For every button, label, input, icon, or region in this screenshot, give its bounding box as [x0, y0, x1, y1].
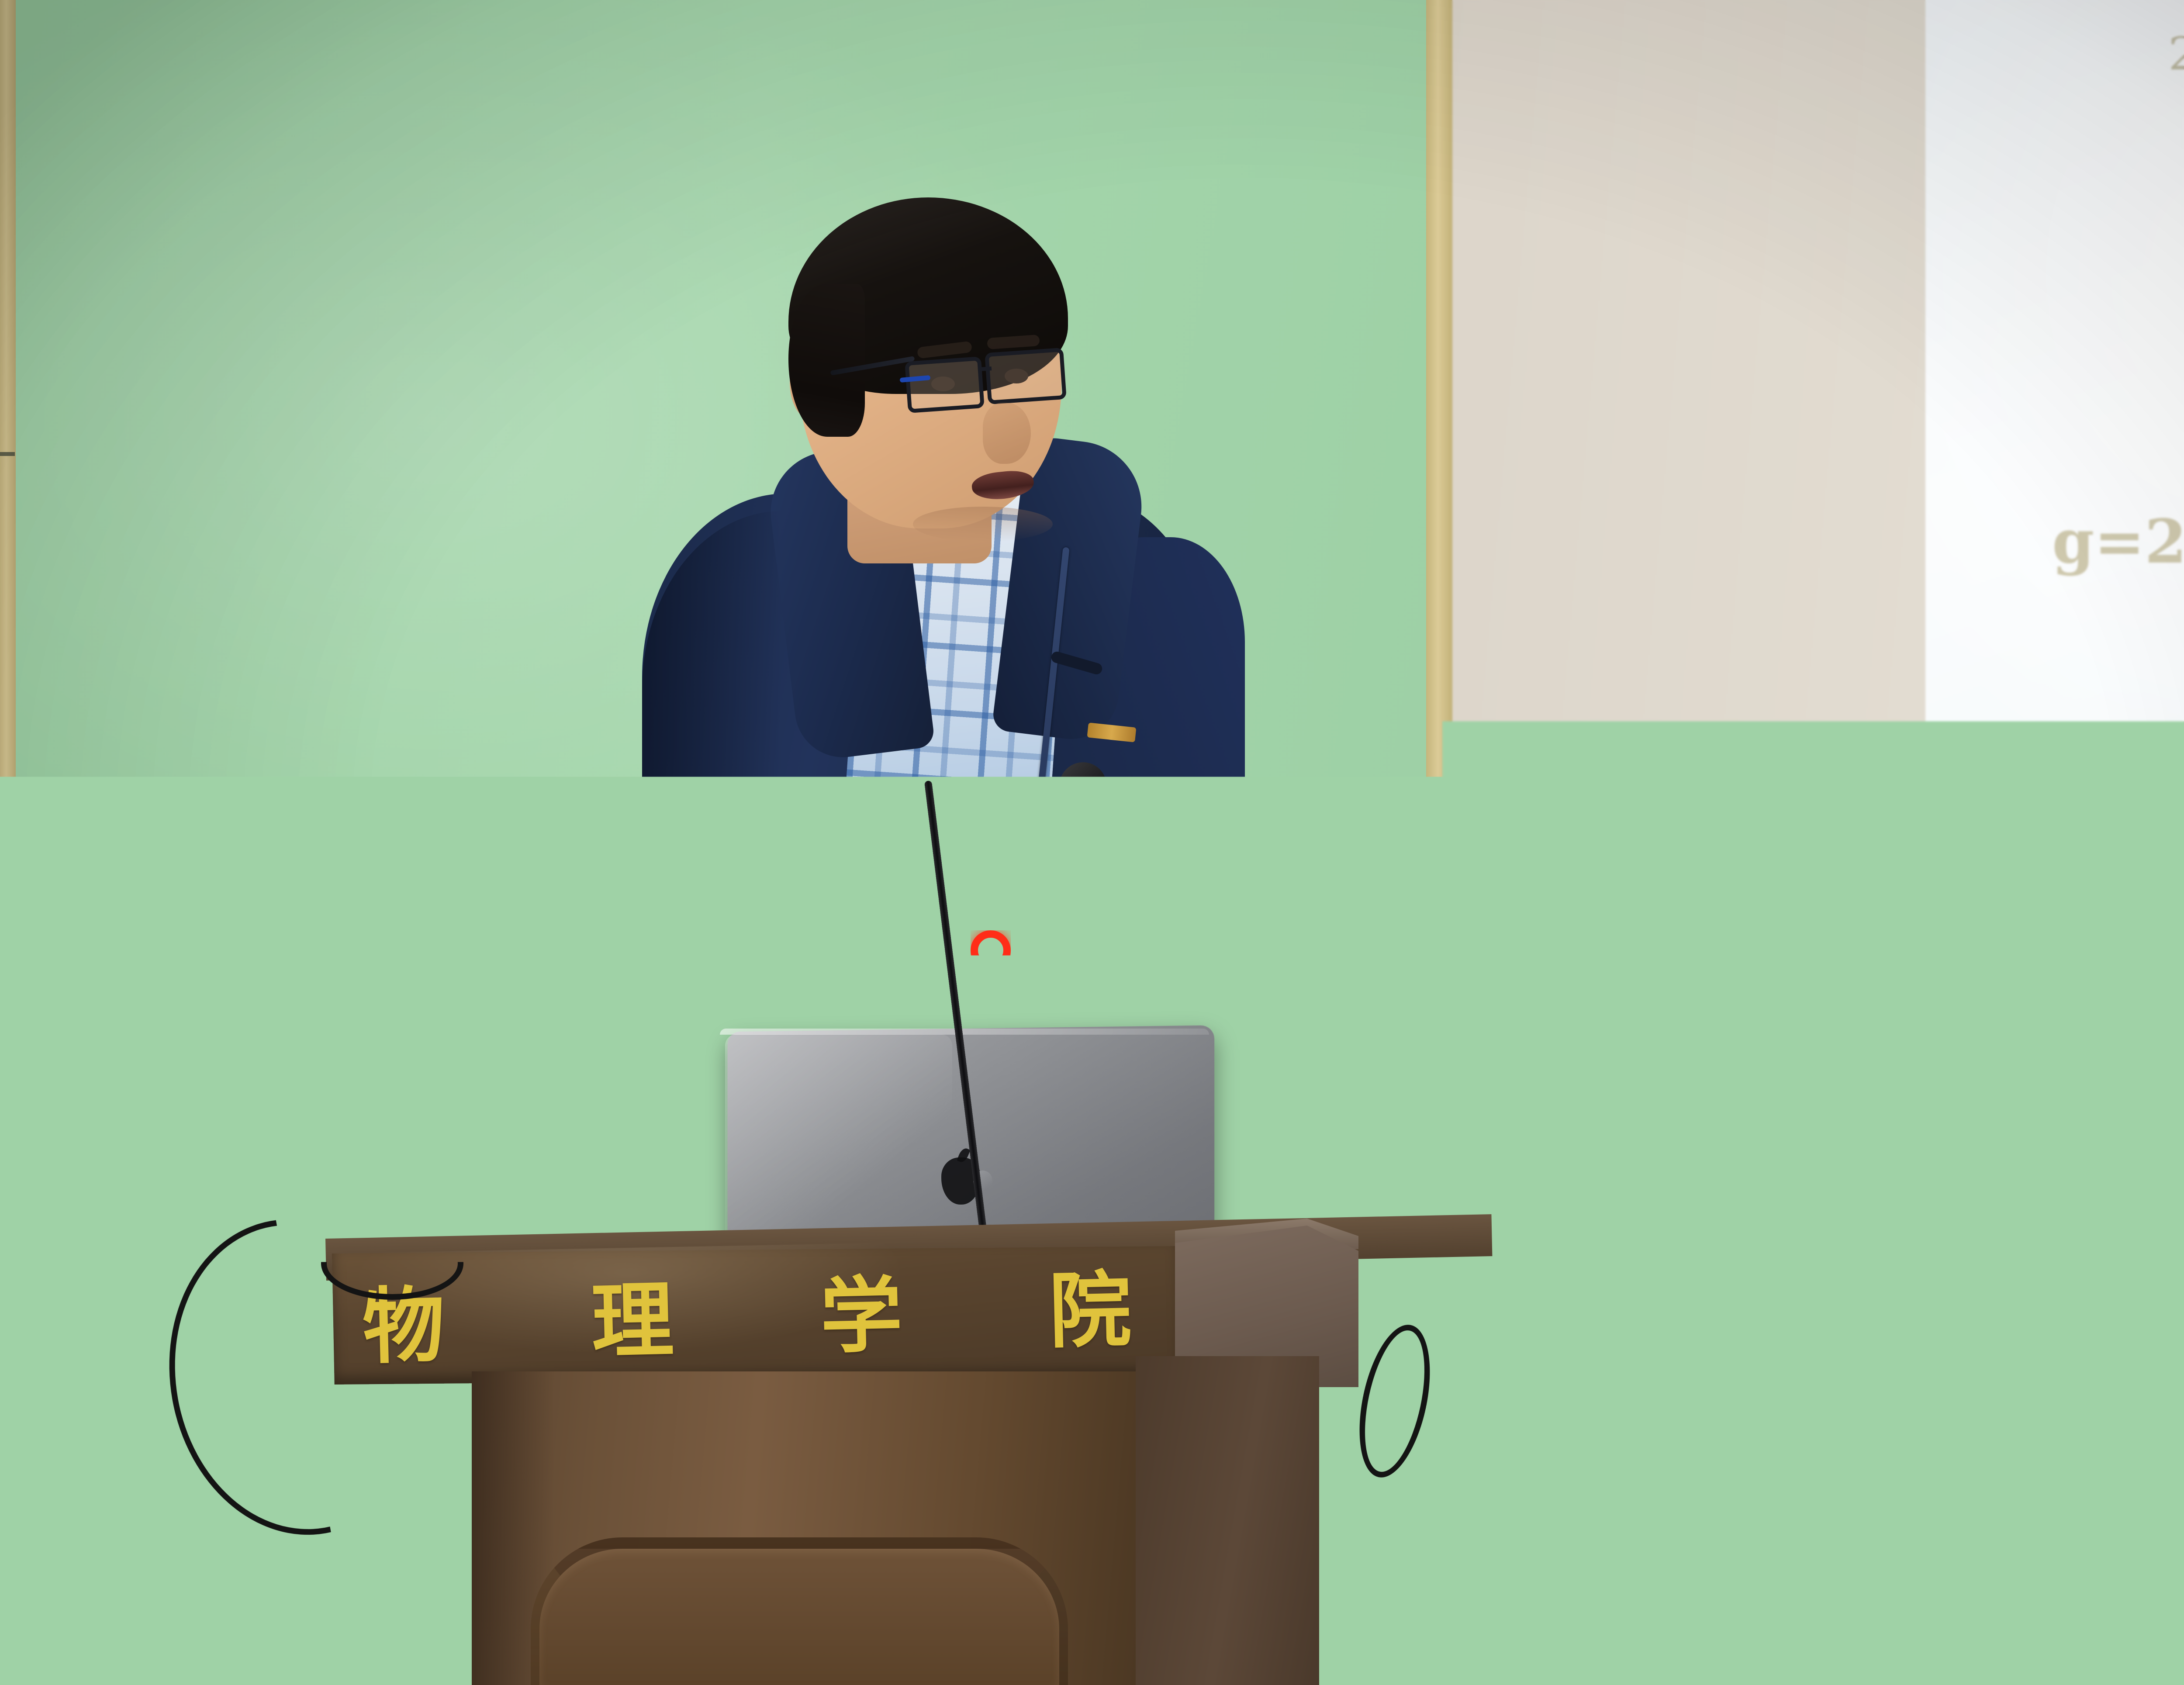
chin-shadow	[913, 507, 1053, 542]
wall-trim-mark	[0, 452, 15, 456]
slide-label-2: 2	[2168, 27, 2184, 80]
glasses-lens-right	[985, 348, 1067, 404]
wall-trim-mark-lower	[0, 1109, 15, 1113]
bottle-cap	[515, 1128, 578, 1161]
speaker-nose	[983, 403, 1031, 464]
glasses-bridge	[980, 366, 992, 371]
projection-screen: 2 3 g=2	[1925, 0, 2184, 1516]
podium-decorative-panel	[531, 1537, 1068, 1685]
podium-sign-char-3: 学	[819, 1274, 903, 1358]
podium-sign-char-2: 理	[591, 1280, 674, 1364]
glasses-lens-left	[905, 356, 985, 413]
photograph-scene: 2 3 g=2	[0, 0, 2184, 1685]
podium-sign: 物 理 学 院	[362, 1260, 1133, 1378]
speaker-hair-sideburn	[788, 284, 865, 437]
podium-column-right-face	[1136, 1356, 1319, 1685]
bottle-cap	[432, 1125, 494, 1158]
laptop-edge-highlight	[720, 1029, 1209, 1035]
bag-flap	[0, 1414, 117, 1503]
podium-sign-char-4: 院	[1048, 1269, 1132, 1353]
slide-equation-genus: g=2	[2052, 506, 2184, 577]
screen-glow	[1925, 0, 2184, 1516]
screen-frame-left-post	[1426, 0, 1452, 1616]
